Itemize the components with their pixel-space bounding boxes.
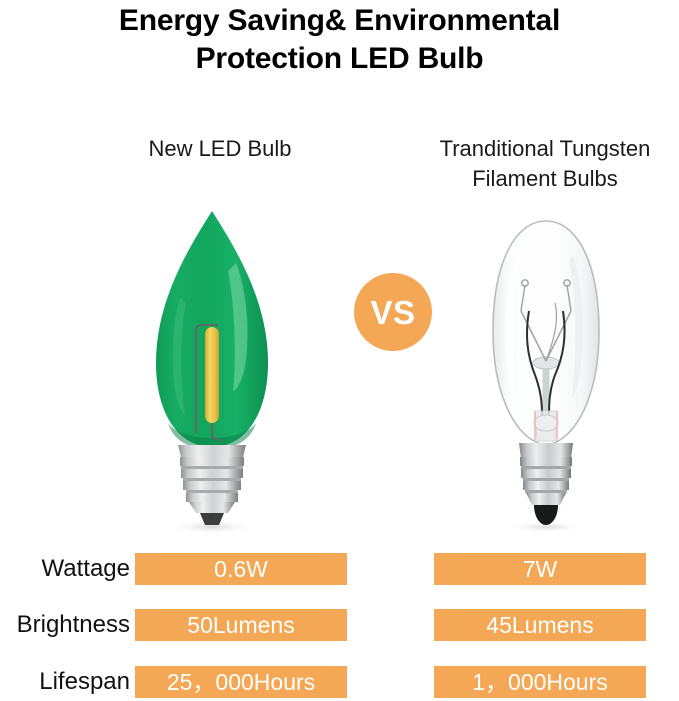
spec-label-lifespan: Lifespan [0, 666, 130, 698]
title-line-1: Energy Saving& Environmental [0, 2, 679, 40]
spec-value-tungsten-wattage-text: 7W [523, 553, 558, 585]
spec-label-brightness: Brightness [0, 609, 130, 641]
spec-value-tungsten-lifespan-text: 1，000Hours [472, 666, 608, 698]
led-base-thread-3 [183, 481, 241, 490]
tungsten-column-caption: Tranditional Tungsten Filament Bulbs [410, 134, 679, 194]
led-column-caption: New LED Bulb [90, 134, 350, 164]
spec-value-led-brightness-text: 50Lumens [187, 609, 294, 641]
vs-badge: VS [354, 273, 432, 351]
spec-value-led-brightness: 50Lumens [135, 609, 347, 641]
title-line-2: Protection LED Bulb [0, 40, 679, 78]
led-base-thread-1 [180, 457, 244, 466]
spec-value-tungsten-brightness: 45Lumens [434, 609, 646, 641]
led-base-taper [189, 502, 235, 513]
spec-label-wattage: Wattage [0, 553, 130, 585]
led-base-groove-2 [183, 478, 241, 481]
tungsten-base-thread-3 [523, 481, 569, 490]
tungsten-base-thread-1 [520, 457, 572, 466]
led-base-thread-2 [181, 469, 243, 478]
tungsten-base-groove-2 [523, 478, 569, 481]
tungsten-stem-bead [533, 357, 559, 369]
spec-value-led-wattage: 0.6W [135, 553, 347, 585]
led-filament [205, 327, 219, 423]
led-base-groove-3 [186, 490, 238, 493]
spec-value-led-wattage-text: 0.6W [214, 553, 268, 585]
page-title: Energy Saving& Environmental Protection … [0, 2, 679, 78]
led-bulb-image [150, 205, 274, 535]
spec-value-led-lifespan-text: 25，000Hours [167, 666, 315, 698]
spec-value-tungsten-wattage: 7W [434, 553, 646, 585]
tungsten-base-collar [519, 443, 573, 459]
tungsten-base-thread-2 [521, 469, 571, 478]
tungsten-base-taper [526, 493, 566, 505]
tungsten-base-groove-1 [521, 466, 571, 469]
tungsten-press-bead [534, 415, 558, 431]
led-base-groove-1 [181, 466, 243, 469]
led-base-thread-4 [186, 493, 238, 502]
vs-label: VS [370, 296, 415, 329]
spec-value-tungsten-lifespan: 1，000Hours [434, 666, 646, 698]
product-comparison-infographic: Energy Saving& Environmental Protection … [0, 0, 679, 701]
spec-value-led-lifespan: 25，000Hours [135, 666, 347, 698]
tungsten-base-groove-3 [525, 490, 567, 493]
spec-value-tungsten-brightness-text: 45Lumens [486, 609, 593, 641]
led-caption-text: New LED Bulb [148, 136, 291, 161]
tungsten-caption-line-1: Tranditional Tungsten [410, 134, 679, 164]
tungsten-bulb-image [485, 215, 607, 535]
tungsten-caption-line-2: Filament Bulbs [410, 164, 679, 194]
